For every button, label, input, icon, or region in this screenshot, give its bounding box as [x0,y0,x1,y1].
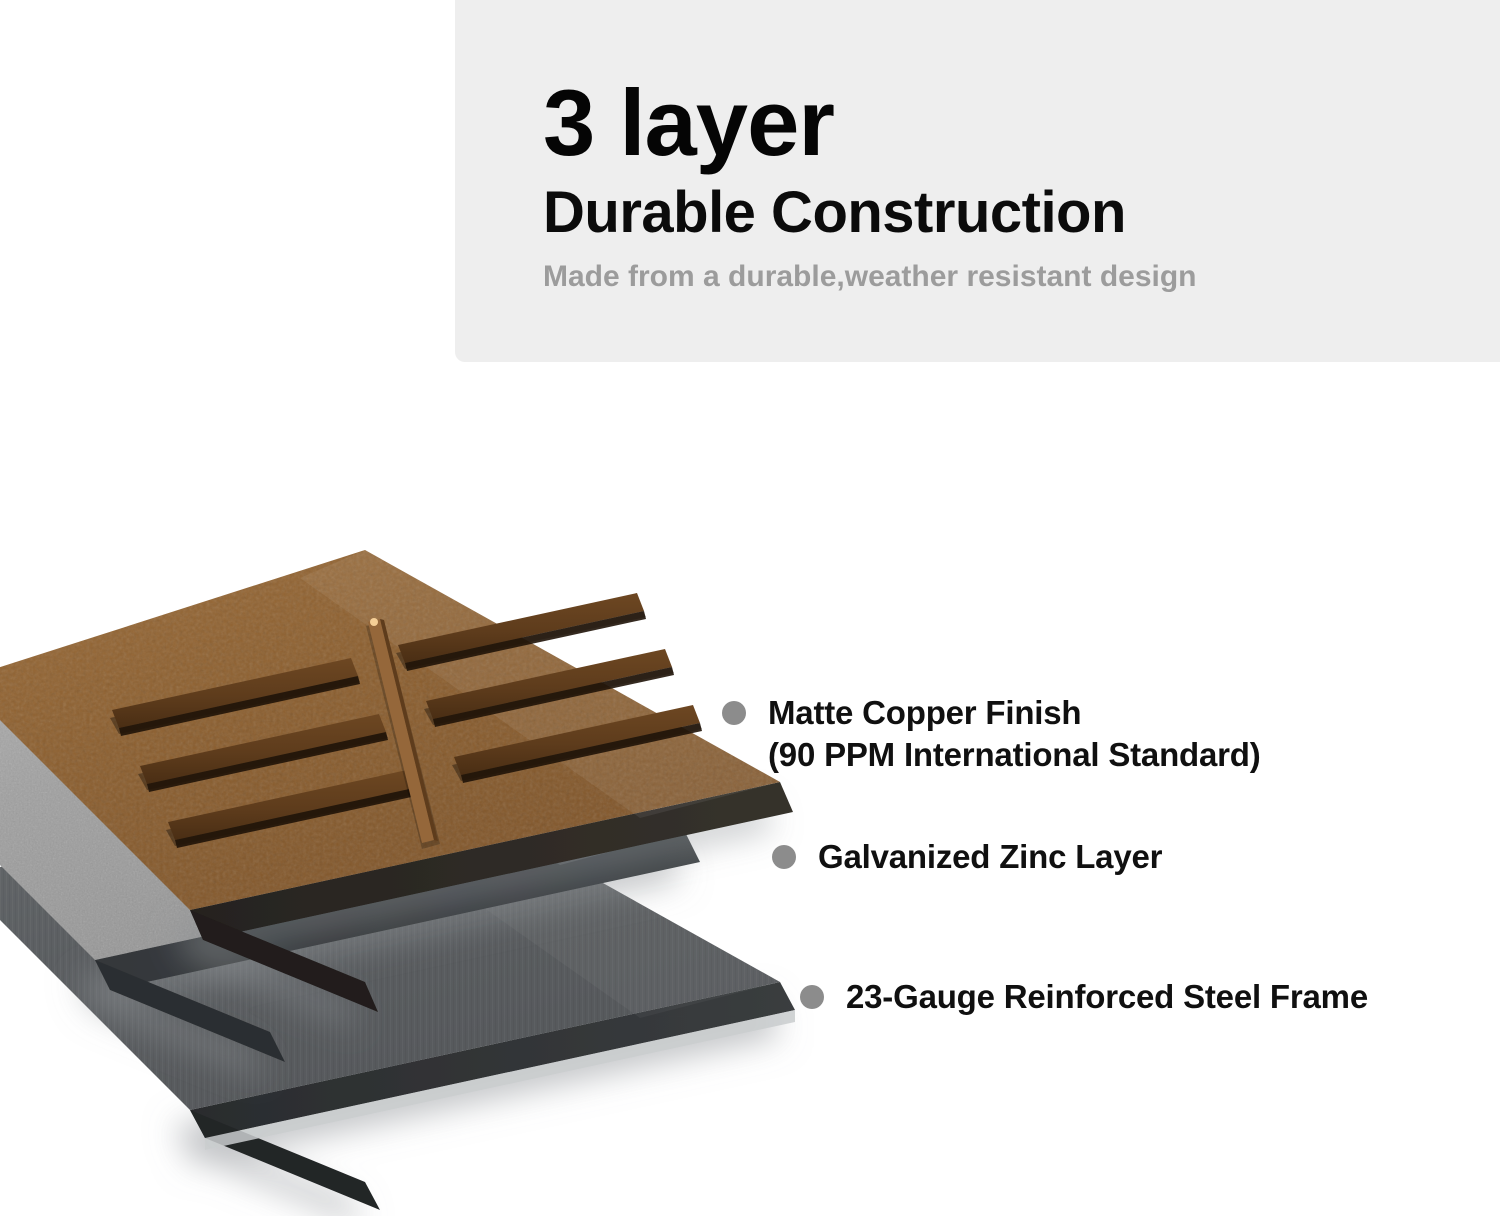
bullet-dot-icon [800,985,824,1009]
callout-copper-label: Matte Copper Finish (90 PPM Internationa… [768,692,1261,776]
callout-steel-label: 23-Gauge Reinforced Steel Frame [846,976,1368,1018]
header-panel: 3 layer Durable Construction Made from a… [455,0,1500,362]
callout-steel: 23-Gauge Reinforced Steel Frame [800,976,1368,1018]
page-title: 3 layer [543,78,1460,168]
callout-zinc: Galvanized Zinc Layer [772,836,1162,878]
callout-copper-line1: Matte Copper Finish [768,694,1081,731]
copper-plate [0,410,900,1216]
page-tagline: Made from a durable,weather resistant de… [543,259,1460,295]
exploded-layer-stack [0,410,900,1216]
header-text-block: 3 layer Durable Construction Made from a… [543,78,1460,295]
callout-zinc-label: Galvanized Zinc Layer [818,836,1162,878]
page-subtitle: Durable Construction [543,182,1460,245]
bullet-dot-icon [722,701,746,725]
callout-copper: Matte Copper Finish (90 PPM Internationa… [722,692,1261,776]
bullet-dot-icon [772,845,796,869]
callout-copper-line2: (90 PPM International Standard) [768,736,1261,773]
